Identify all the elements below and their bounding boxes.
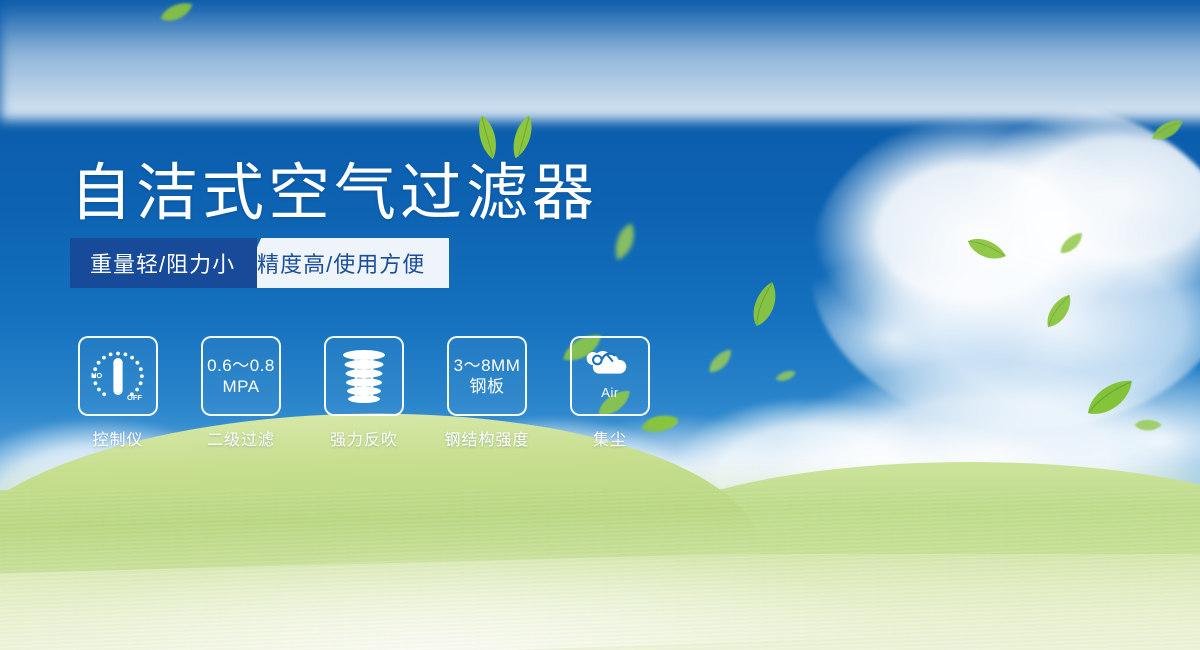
feature-value-line2: 钢板 xyxy=(470,376,505,397)
svg-text:NO: NO xyxy=(91,371,102,380)
feature-label: 二级过滤 xyxy=(207,426,275,450)
feature-icon-box: Air xyxy=(570,336,650,416)
subtitle-bar: 重量轻/阻力小 精度高/使用方便 xyxy=(70,238,449,288)
feature-value-line1: 3～8MM xyxy=(454,355,521,376)
feature-item-steel-strength[interactable]: 3～8MM 钢板 钢结构强度 xyxy=(439,336,535,450)
feature-icon-box: 3～8MM 钢板 xyxy=(447,336,527,416)
feature-label: 钢结构强度 xyxy=(444,426,529,450)
feature-list: NO OFF 控制仪 0.6～0.8 MPA 二级过滤 xyxy=(70,336,658,450)
feature-icon-box: NO OFF xyxy=(78,336,158,416)
feature-value-line2: MPA xyxy=(222,376,259,397)
svg-text:OFF: OFF xyxy=(127,393,142,402)
feature-item-secondary-filter[interactable]: 0.6～0.8 MPA 二级过滤 xyxy=(193,336,289,450)
feature-label: 控制仪 xyxy=(92,426,143,450)
feature-icon-box: 0.6～0.8 MPA xyxy=(201,336,281,416)
feature-item-backblow[interactable]: 强力反吹 xyxy=(316,336,412,450)
feature-icon-box xyxy=(324,336,404,416)
feature-label: 集尘 xyxy=(593,426,627,450)
subtitle-right: 精度高/使用方便 xyxy=(239,238,449,288)
air-label: Air xyxy=(601,386,618,400)
page-title: 自洁式空气过滤器 xyxy=(70,142,598,232)
gauge-icon: NO OFF xyxy=(87,345,149,407)
feature-item-dust-collection[interactable]: Air 集尘 xyxy=(562,336,658,450)
feature-value-line1: 0.6～0.8 xyxy=(207,355,275,376)
coil-filter-icon xyxy=(335,345,393,407)
feature-label: 强力反吹 xyxy=(330,426,398,450)
feature-item-controller[interactable]: NO OFF 控制仪 xyxy=(70,336,166,450)
cloud-air-icon: Air xyxy=(579,347,641,405)
subtitle-left: 重量轻/阻力小 xyxy=(70,238,257,288)
product-banner: 自洁式空气过滤器 重量轻/阻力小 精度高/使用方便 xyxy=(0,0,1200,650)
banner-content: 自洁式空气过滤器 重量轻/阻力小 精度高/使用方便 xyxy=(0,0,1200,650)
